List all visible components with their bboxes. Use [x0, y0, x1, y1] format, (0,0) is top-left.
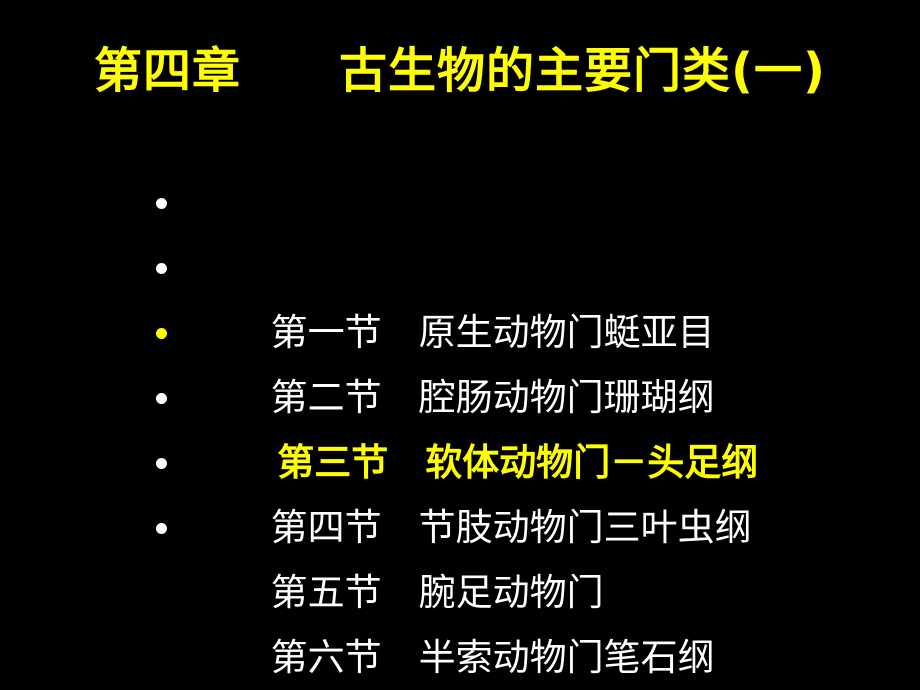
bullet-icon [156, 523, 167, 534]
list-item[interactable]: 第一节 原生动物门蜓亚目 [150, 170, 890, 235]
list-item-label: 第六节 半索动物门笔石纲 [271, 625, 715, 690]
bullet-icon [156, 198, 167, 209]
page-title: 第四章 古生物的主要门类(一) [0, 42, 920, 100]
list-item[interactable]: 第四节 节肢动物门三叶虫纲 [150, 365, 890, 430]
list-item[interactable]: 第六节 半索动物门笔石纲 [150, 495, 890, 560]
bullet-icon [156, 393, 167, 404]
bullet-icon [156, 328, 167, 339]
section-list: 第一节 原生动物门蜓亚目 第二节 腔肠动物门珊瑚纲 第三节 软体动物门－头足纲 … [150, 170, 890, 560]
list-item[interactable]: 第二节 腔肠动物门珊瑚纲 [150, 235, 890, 300]
list-item-label: 第五节 腕足动物门 [271, 560, 604, 625]
presentation-slide: 第四章 古生物的主要门类(一) 第一节 原生动物门蜓亚目 第二节 腔肠动物门珊瑚… [0, 0, 920, 690]
bullet-icon [156, 263, 167, 274]
bullet-icon [156, 458, 167, 469]
list-item-highlighted[interactable]: 第三节 软体动物门－头足纲 [150, 300, 890, 365]
list-item[interactable]: 第五节 腕足动物门 [150, 430, 890, 495]
